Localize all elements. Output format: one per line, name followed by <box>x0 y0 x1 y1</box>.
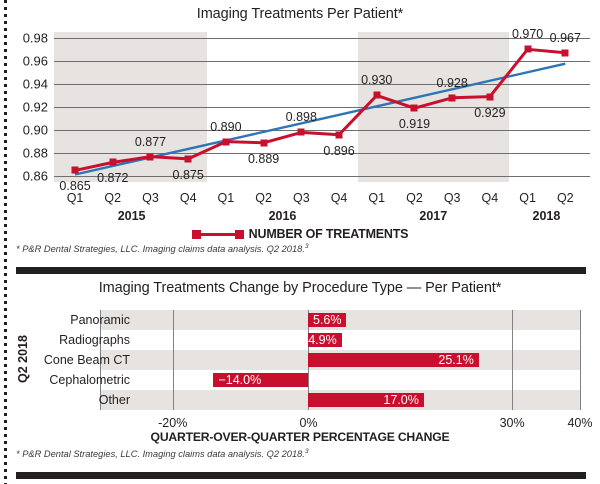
x-axis-tick-5: Q2 <box>244 191 284 205</box>
y-axis-tick-0.98: 0.98 <box>2 30 48 45</box>
data-point-marker <box>222 138 229 145</box>
data-point-label: 0.919 <box>399 117 430 131</box>
x-axis-tick-3: Q4 <box>168 191 208 205</box>
x-axis-tick-7: Q4 <box>319 191 359 205</box>
bar-chart-plot-area <box>132 310 580 410</box>
bar-value-label-4: 17.0% <box>383 393 418 407</box>
y-axis-tick-0.88: 0.88 <box>2 146 48 161</box>
bar-x-axis-tick-30%: 30% <box>482 416 542 430</box>
bar-value-label-1: 4.9% <box>308 333 337 347</box>
data-point-label: 0.967 <box>550 31 581 45</box>
y-axis-tick-0.96: 0.96 <box>2 53 48 68</box>
x-axis-tick-9: Q2 <box>394 191 434 205</box>
data-point-label: 0.875 <box>173 168 204 182</box>
bar-chart-x-axis-title: QUARTER-OVER-QUARTER PERCENTAGE CHANGE <box>0 430 600 444</box>
x-axis-tick-6: Q3 <box>281 191 321 205</box>
x-axis-tick-11: Q4 <box>470 191 510 205</box>
x-axis-tick-13: Q2 <box>545 191 585 205</box>
bar-category-label-2: Cone Beam CT <box>0 353 134 367</box>
bar-x-axis-tick-0%: 0% <box>278 416 338 430</box>
data-point-label: 0.929 <box>474 106 505 120</box>
x-gridline--20% <box>173 310 174 410</box>
bar-category-label-0: Panoramic <box>0 313 134 327</box>
line-chart-plot-area <box>54 32 590 182</box>
data-point-marker <box>298 129 305 136</box>
x-axis-tick-12: Q1 <box>508 191 548 205</box>
bar-chart-title: Imaging Treatments Change by Procedure T… <box>0 280 600 296</box>
infographic-root: Imaging Treatments Per Patient* 0.980.96… <box>0 0 600 484</box>
data-point-marker <box>486 93 493 100</box>
bar-value-label-2: 25.1% <box>438 353 473 367</box>
line-chart-panel: Imaging Treatments Per Patient* 0.980.96… <box>0 0 600 258</box>
line-chart-footnote-text: * P&R Dental Strategies, LLC. Imaging cl… <box>16 244 305 254</box>
data-point-label: 0.898 <box>286 110 317 124</box>
year-label-2018: 2018 <box>533 209 561 223</box>
data-point-label: 0.890 <box>210 120 241 134</box>
y-axis-tick-0.92: 0.92 <box>2 100 48 115</box>
line-chart-footnote: * P&R Dental Strategies, LLC. Imaging cl… <box>16 243 309 254</box>
y-axis-tick-0.94: 0.94 <box>2 76 48 91</box>
x-axis-tick-1: Q2 <box>93 191 133 205</box>
data-point-marker <box>260 139 267 146</box>
bar-category-label-3: Cephalometric <box>0 373 134 387</box>
line-chart-footnote-superscript: 3 <box>305 243 309 250</box>
year-label-2016: 2016 <box>269 209 297 223</box>
y-axis-tick-0.90: 0.90 <box>2 123 48 138</box>
bar-chart-footnote-text: * P&R Dental Strategies, LLC. Imaging cl… <box>16 449 305 459</box>
x-axis-tick-0: Q1 <box>55 191 95 205</box>
y-axis-tick-0.86: 0.86 <box>2 169 48 184</box>
bar-x-axis-tick-40%: 40% <box>550 416 600 430</box>
data-point-label: 0.877 <box>135 135 166 149</box>
data-point-marker <box>562 49 569 56</box>
bar-x-axis-tick--20%: -20% <box>143 416 203 430</box>
data-point-label: 0.872 <box>97 171 128 185</box>
data-point-label: 0.889 <box>248 152 279 166</box>
data-point-marker <box>185 155 192 162</box>
divider-rule-bottom <box>16 472 586 479</box>
year-label-2017: 2017 <box>419 209 447 223</box>
line-chart-title: Imaging Treatments Per Patient* <box>0 6 600 22</box>
bar-category-label-4: Other <box>0 393 134 407</box>
data-point-marker <box>147 153 154 160</box>
bar-value-label-3: −14.0% <box>218 373 261 387</box>
bar-chart-footnote-superscript: 3 <box>305 448 309 455</box>
x-axis-tick-10: Q3 <box>432 191 472 205</box>
year-label-2015: 2015 <box>118 209 146 223</box>
data-point-marker <box>72 167 79 174</box>
data-point-label: 0.928 <box>437 76 468 90</box>
line-series-svg <box>54 32 590 182</box>
data-point-label: 0.930 <box>361 73 392 87</box>
line-chart-legend: NUMBER OF TREATMENTS <box>0 227 600 241</box>
data-point-marker <box>449 94 456 101</box>
legend-line-swatch <box>192 229 244 240</box>
x-axis-tick-8: Q1 <box>357 191 397 205</box>
data-point-label: 0.970 <box>512 27 543 41</box>
x-axis-tick-4: Q1 <box>206 191 246 205</box>
x-axis-tick-2: Q3 <box>130 191 170 205</box>
data-point-marker <box>336 131 343 138</box>
data-point-marker <box>411 105 418 112</box>
bar-value-label-0: 5.6% <box>313 313 342 327</box>
data-point-marker <box>109 159 116 166</box>
data-point-label: 0.896 <box>323 144 354 158</box>
data-point-marker <box>373 92 380 99</box>
bar-chart-panel: Imaging Treatments Change by Procedure T… <box>0 276 600 466</box>
divider-rule-top <box>16 267 586 274</box>
x-gridline-40% <box>580 310 581 410</box>
bar-category-label-1: Radiographs <box>0 333 134 347</box>
data-point-marker <box>524 46 531 53</box>
x-gridline-30% <box>512 310 513 410</box>
bar-chart-footnote: * P&R Dental Strategies, LLC. Imaging cl… <box>16 448 309 459</box>
legend-label-number-of-treatments: NUMBER OF TREATMENTS <box>249 227 409 241</box>
